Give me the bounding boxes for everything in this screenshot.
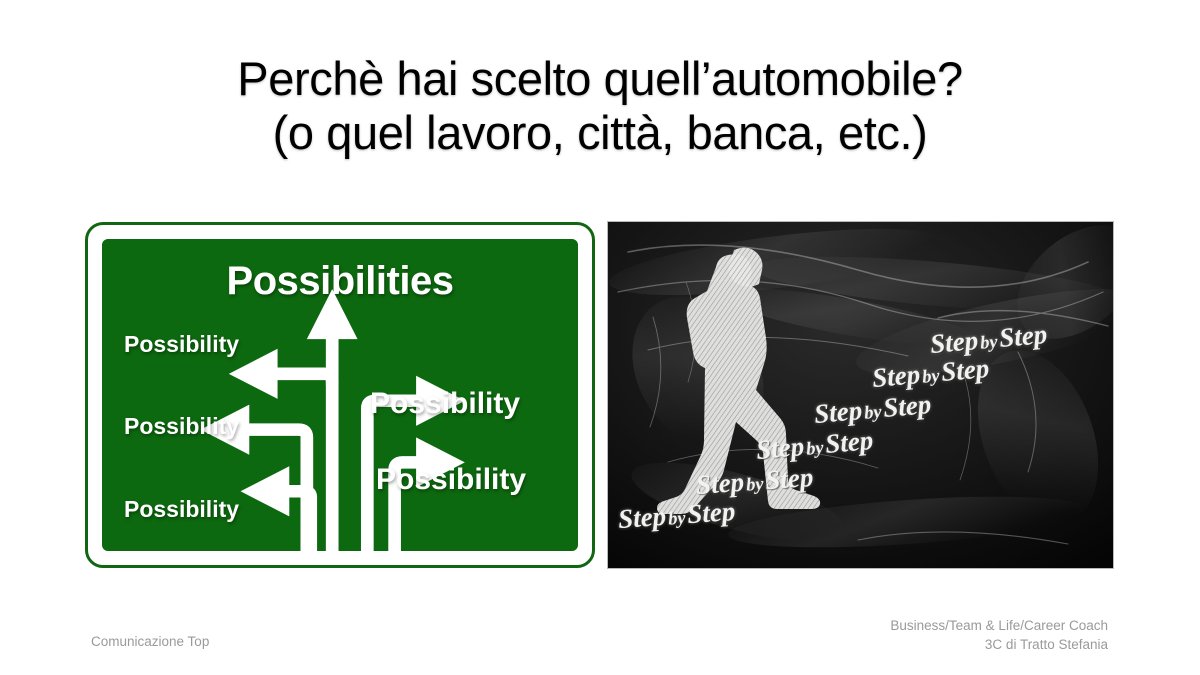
- sign-label-right-2: Possibility: [376, 463, 526, 497]
- chalk-word-step-2b: Step: [764, 462, 814, 495]
- chalk-word-by-4: by: [861, 401, 884, 423]
- chalk-word-by-2: by: [744, 473, 767, 494]
- chalk-word-step-6b: Step: [998, 319, 1048, 353]
- footer-left-text: Comunicazione Top: [91, 634, 209, 649]
- sign-label-left-2: Possibility: [124, 413, 239, 440]
- chalk-word-step-5: Step: [871, 359, 921, 393]
- page-title: Perchè hai scelto quell’automobile? (o q…: [0, 52, 1200, 160]
- chalk-word-by-5: by: [919, 365, 942, 387]
- chalk-word-step-4b: Step: [882, 389, 932, 423]
- chalk-word-by-6: by: [977, 331, 1000, 353]
- chalk-word-step-1: Step: [617, 501, 667, 534]
- footer-right-line-2: 3C di Tratto Stefania: [890, 635, 1108, 654]
- chalk-word-step-4: Step: [813, 395, 863, 429]
- chalk-word-step-3b: Step: [824, 425, 874, 459]
- footer-right-line-1: Business/Team & Life/Career Coach: [890, 616, 1108, 635]
- sign-label-left-3: Possibility: [124, 496, 239, 523]
- sign-label-left-1: Possibility: [124, 331, 239, 358]
- title-line-1: Perchè hai scelto quell’automobile?: [0, 52, 1200, 106]
- sign-label-right-1: Possibility: [370, 387, 520, 421]
- chalk-word-step-2: Step: [695, 467, 745, 500]
- slide-canvas: Perchè hai scelto quell’automobile? (o q…: [0, 0, 1200, 675]
- sign-inner-panel: Possibilities: [99, 236, 581, 554]
- chalk-word-by-3: by: [803, 437, 826, 459]
- chalk-word-step-6: Step: [929, 325, 979, 359]
- chalk-word-by-1: by: [666, 507, 689, 528]
- step-by-step-chalkboard-image: StepbyStep StepbyStep StepbyStep StepbyS…: [608, 222, 1113, 568]
- chalk-word-step-3: Step: [755, 431, 805, 465]
- chalk-word-step-1b: Step: [686, 496, 736, 529]
- footer-right-text: Business/Team & Life/Career Coach 3C di …: [890, 616, 1108, 654]
- sign-outer-frame: Possibilities: [85, 222, 595, 568]
- possibilities-road-sign-image: Possibilities: [85, 222, 595, 568]
- title-line-2: (o quel lavoro, città, banca, etc.): [0, 106, 1200, 160]
